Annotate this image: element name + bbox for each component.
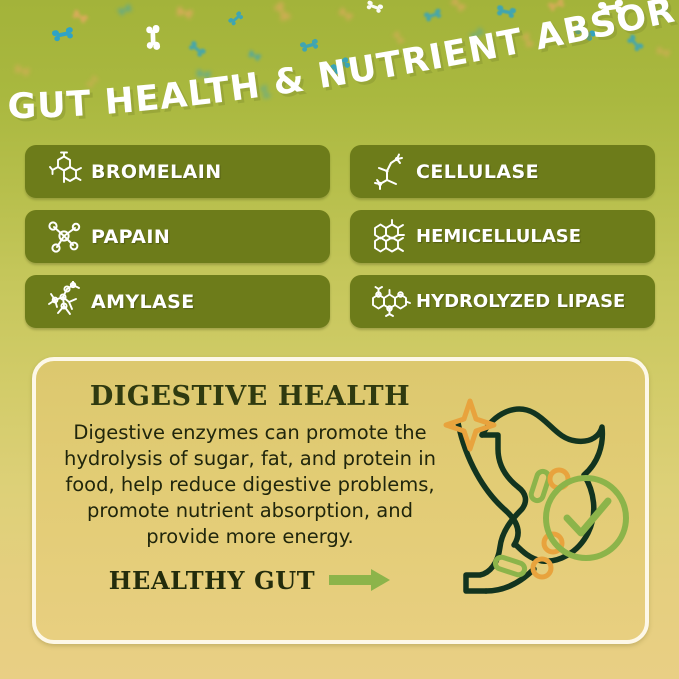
enzyme-pill-label: HYDROLYZED LIPASE xyxy=(416,291,625,312)
molecule-oxygen-rings-icon xyxy=(364,281,416,323)
card-body-text: Digestive enzymes can promote the hydrol… xyxy=(50,420,450,550)
header-banner: GUT HEALTH & NUTRIENT ABSORPTION GUT HEA… xyxy=(0,0,679,130)
card-text-block: DIGESTIVE HEALTH Digestive enzymes can p… xyxy=(50,381,450,595)
sparkle-icon xyxy=(446,401,494,449)
enzyme-pill-bromelain[interactable]: BROMELAIN xyxy=(25,145,330,198)
enzyme-pill-cellulase[interactable]: CELLULASE xyxy=(350,145,655,198)
enzyme-pill-label: BROMELAIN xyxy=(91,161,222,183)
molecule-fused-hexagons-icon xyxy=(39,151,91,193)
stomach-gut-with-check-icon xyxy=(442,383,637,623)
enzyme-pill-label: HEMICELLULASE xyxy=(416,226,581,247)
molecule-branched-chain-icon xyxy=(39,281,91,323)
enzyme-pill-hemicellulase[interactable]: HEMICELLULASE xyxy=(350,210,655,263)
enzyme-pill-papain[interactable]: PAPAIN xyxy=(25,210,330,263)
cta-label: HEALTHY GUT xyxy=(109,566,315,595)
healthy-gut-cta[interactable]: HEALTHY GUT xyxy=(50,566,450,595)
check-circle-icon xyxy=(546,478,626,558)
enzyme-pill-hydrolyzed-lipase[interactable]: HYDROLYZED LIPASE xyxy=(350,275,655,328)
page-title-text: GUT HEALTH & NUTRIENT ABSORPTION xyxy=(0,0,679,127)
molecule-branched-dots-icon xyxy=(364,151,416,193)
page-title: GUT HEALTH & NUTRIENT ABSORPTION xyxy=(0,0,679,127)
enzyme-pill-label: AMYLASE xyxy=(91,291,195,313)
digestive-health-card: DIGESTIVE HEALTH Digestive enzymes can p… xyxy=(32,357,649,644)
enzyme-pill-label: PAPAIN xyxy=(91,226,170,248)
enzyme-list: BROMELAIN CELLULASE xyxy=(25,145,655,328)
enzyme-pill-label: CELLULASE xyxy=(416,161,539,183)
enzyme-pill-amylase[interactable]: AMYLASE xyxy=(25,275,330,328)
card-heading: DIGESTIVE HEALTH xyxy=(50,381,450,412)
arc-title-svg: GUT HEALTH & NUTRIENT ABSORPTION GUT HEA… xyxy=(0,0,679,130)
molecule-bicyclic-icon xyxy=(364,216,416,258)
arrow-right-icon xyxy=(329,569,391,591)
molecule-radial-nodes-icon xyxy=(39,216,91,258)
